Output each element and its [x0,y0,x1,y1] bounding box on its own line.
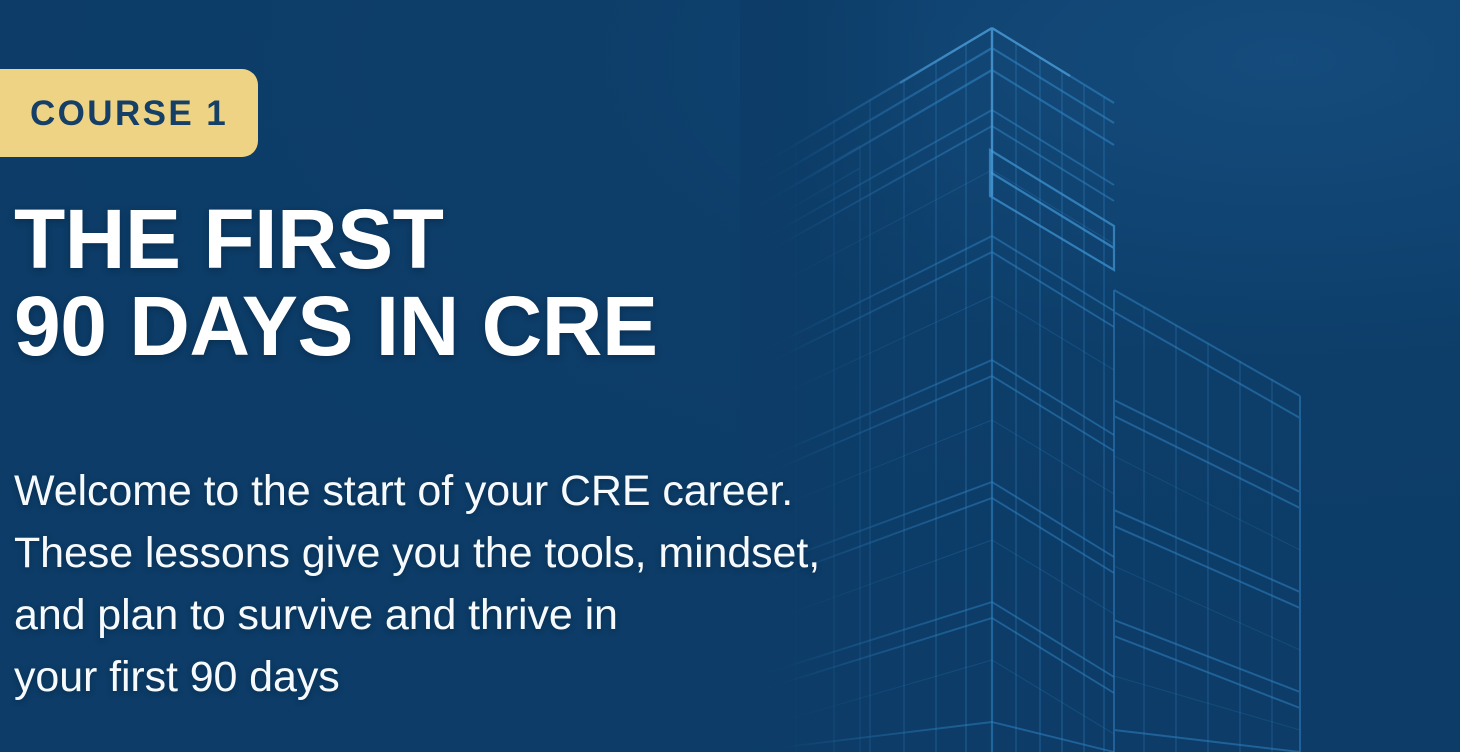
course-title-slide: COURSE 1 THE FIRST 90 DAYS IN CRE Welcom… [0,0,1460,752]
course-description-line-4: your first 90 days [14,646,820,708]
course-number-label: COURSE 1 [30,96,228,131]
course-description-line-2: These lessons give you the tools, mindse… [14,522,820,584]
course-description-line-1: Welcome to the start of your CRE career. [14,460,820,522]
course-number-badge: COURSE 1 [0,69,258,157]
page-title-line-2: 90 DAYS IN CRE [14,283,657,370]
course-description-line-3: and plan to survive and thrive in [14,584,820,646]
slide-content: COURSE 1 THE FIRST 90 DAYS IN CRE Welcom… [0,0,960,752]
page-title-line-1: THE FIRST [14,196,657,283]
course-description: Welcome to the start of your CRE career.… [14,460,820,708]
page-title: THE FIRST 90 DAYS IN CRE [14,196,657,371]
